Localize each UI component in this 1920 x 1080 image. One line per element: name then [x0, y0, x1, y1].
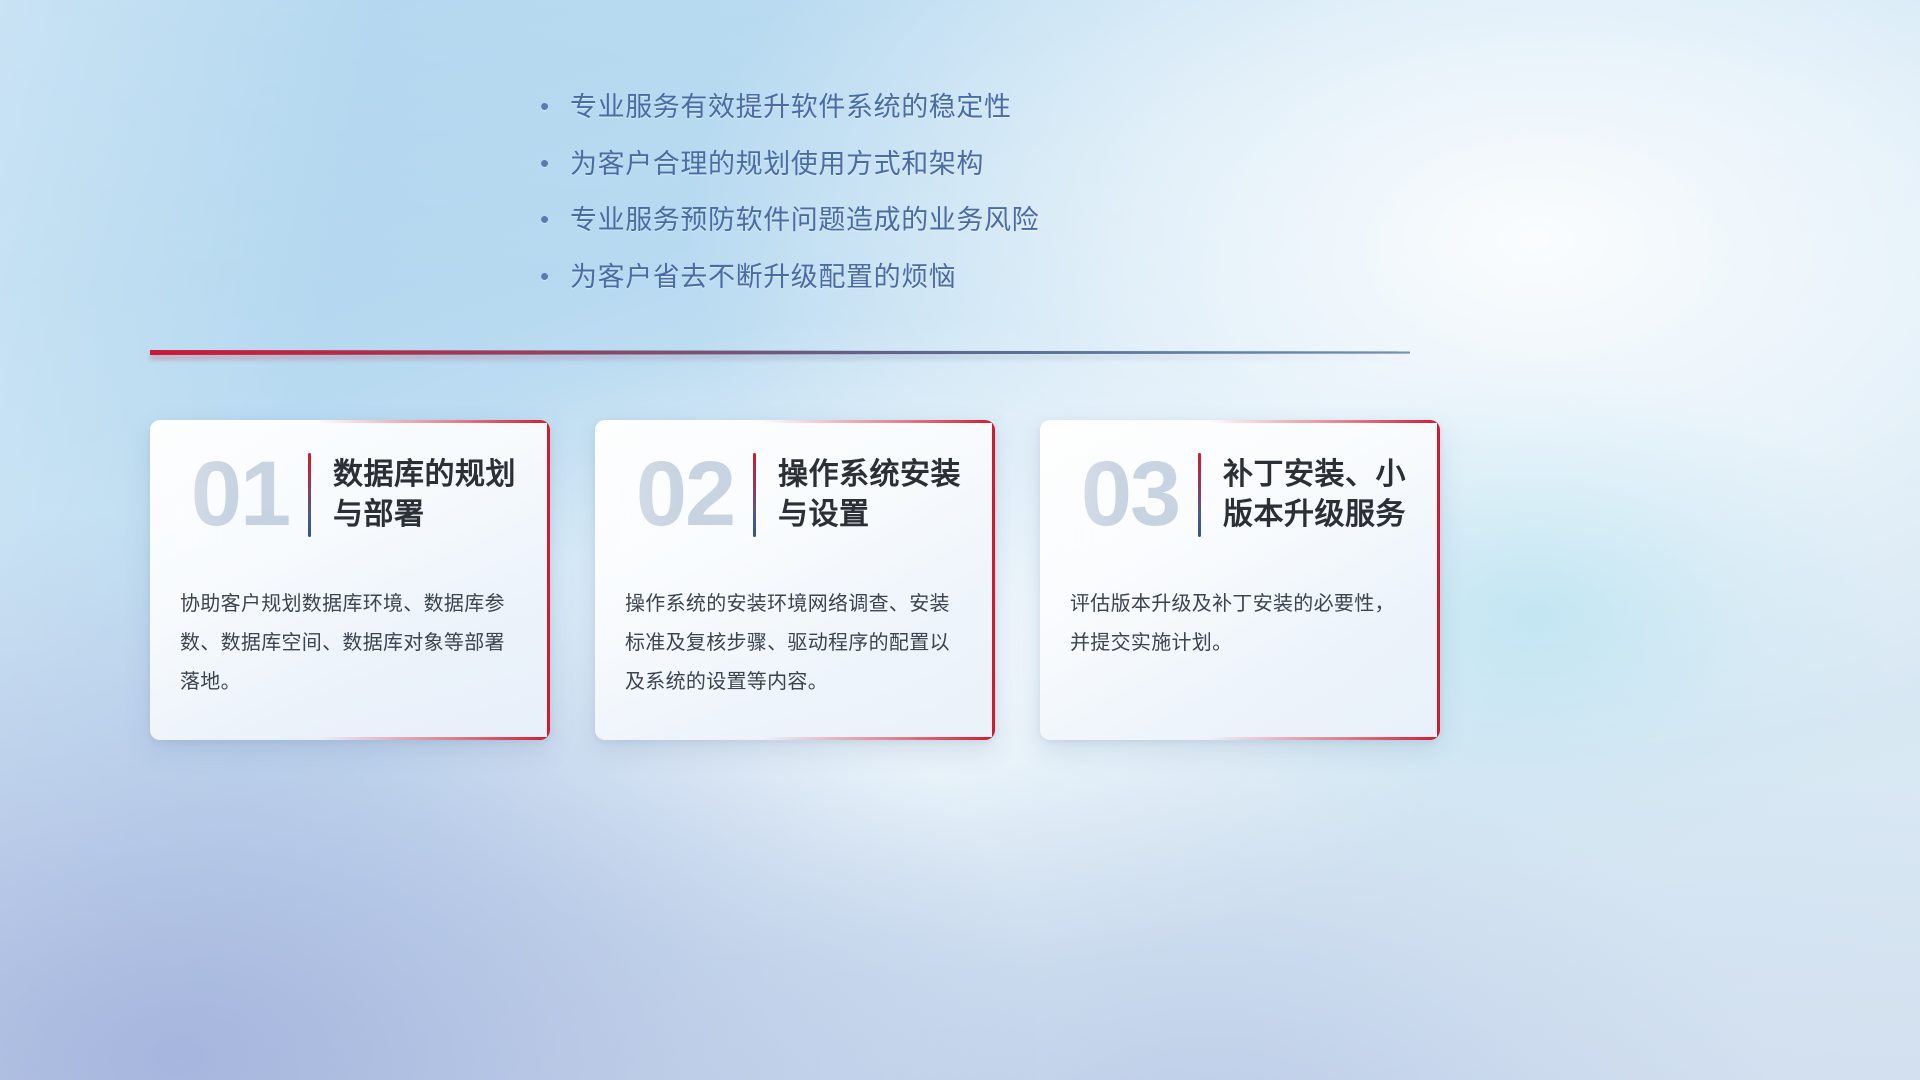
section-divider-shadow — [150, 354, 1410, 360]
card-accent-top — [318, 420, 550, 423]
list-item: • 为客户省去不断升级配置的烦恼 — [540, 260, 1160, 296]
bullet-dot-icon: • — [540, 90, 570, 124]
list-item-label: 专业服务有效提升软件系统的稳定性 — [570, 90, 1160, 126]
card-header: 02 操作系统安装与设置 — [595, 432, 995, 557]
card-accent-bottom — [318, 737, 550, 740]
list-item-label: 为客户合理的规划使用方式和架构 — [570, 147, 1160, 183]
card-number: 01 — [176, 442, 304, 547]
bullet-dot-icon: • — [540, 147, 570, 181]
benefits-bullet-list: • 专业服务有效提升软件系统的稳定性 • 为客户合理的规划使用方式和架构 • 专… — [540, 90, 1160, 317]
card-body-text: 操作系统的安装环境网络调查、安装标准及复核步骤、驱动程序的配置以及系统的设置等内… — [625, 585, 967, 702]
card-header: 03 补丁安装、小版本升级服务 — [1040, 432, 1440, 557]
bullet-dot-icon: • — [540, 203, 570, 237]
card-body-text: 协助客户规划数据库环境、数据库参数、数据库空间、数据库对象等部署落地。 — [180, 585, 522, 702]
service-card-02[interactable]: 02 操作系统安装与设置 操作系统的安装环境网络调查、安装标准及复核步骤、驱动程… — [595, 420, 995, 740]
service-card-01[interactable]: 01 数据库的规划与部署 协助客户规划数据库环境、数据库参数、数据库空间、数据库… — [150, 420, 550, 740]
list-item-label: 专业服务预防软件问题造成的业务风险 — [570, 203, 1160, 239]
list-item: • 专业服务预防软件问题造成的业务风险 — [540, 203, 1160, 239]
card-number: 02 — [621, 442, 749, 547]
card-accent-bottom — [1208, 737, 1440, 740]
card-accent-bottom — [763, 737, 995, 740]
card-divider-icon — [753, 453, 756, 537]
service-card-group: 01 数据库的规划与部署 协助客户规划数据库环境、数据库参数、数据库空间、数据库… — [0, 420, 1920, 750]
card-title: 操作系统安装与设置 — [778, 455, 995, 534]
section-divider — [150, 344, 1410, 362]
service-card-03[interactable]: 03 补丁安装、小版本升级服务 评估版本升级及补丁安装的必要性，并提交实施计划。 — [1040, 420, 1440, 740]
list-item: • 专业服务有效提升软件系统的稳定性 — [540, 90, 1160, 126]
card-header: 01 数据库的规划与部署 — [150, 432, 550, 557]
card-title: 数据库的规划与部署 — [333, 455, 550, 534]
card-divider-icon — [308, 453, 311, 537]
card-body-text: 评估版本升级及补丁安装的必要性，并提交实施计划。 — [1070, 585, 1412, 663]
list-item-label: 为客户省去不断升级配置的烦恼 — [570, 260, 1160, 296]
card-divider-icon — [1198, 453, 1201, 537]
card-accent-top — [1208, 420, 1440, 423]
card-number: 03 — [1066, 442, 1194, 547]
list-item: • 为客户合理的规划使用方式和架构 — [540, 147, 1160, 183]
card-title: 补丁安装、小版本升级服务 — [1223, 455, 1440, 534]
bullet-dot-icon: • — [540, 260, 570, 294]
card-accent-top — [763, 420, 995, 423]
